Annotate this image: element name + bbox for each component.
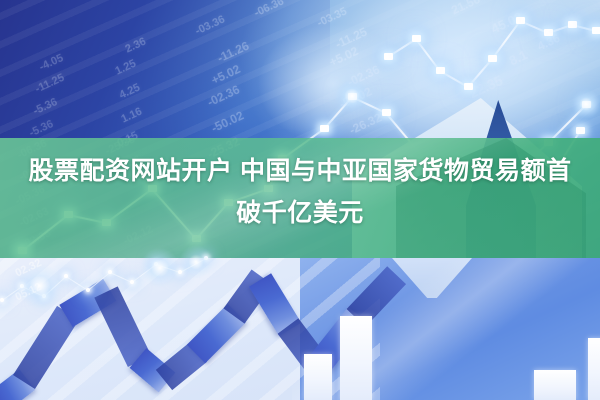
chart-node-marker <box>320 125 329 132</box>
headline-line-1: 股票配资网站开户 中国与中亚国家货物贸易额首 <box>0 150 600 192</box>
chart-node-marker <box>488 55 497 62</box>
light-flare <box>179 245 213 279</box>
news-banner: -06.3621.56-03.3545.02-03.36-11.254.362.… <box>0 0 600 400</box>
light-flare <box>140 248 180 288</box>
small-chart-node <box>86 288 90 292</box>
chart-node-marker <box>544 29 553 36</box>
small-chart-node <box>64 274 68 278</box>
chart-node-marker <box>436 67 445 74</box>
headline-line-2: 破千亿美元 <box>0 192 600 234</box>
chart-node-marker <box>516 17 525 24</box>
chart-line-segment <box>491 20 520 59</box>
chart-node-marker <box>382 109 391 116</box>
page-title: 股票配资网站开户 中国与中亚国家货物贸易额首 破千亿美元 <box>0 150 600 234</box>
small-chart-node <box>108 270 112 274</box>
light-flare <box>335 79 369 113</box>
chart-node-marker <box>592 27 600 34</box>
chart-node-marker <box>412 35 421 42</box>
chart-node-marker <box>384 53 393 60</box>
chart-node-marker <box>576 127 585 134</box>
small-chart-node <box>0 298 4 302</box>
bar-chart-bar <box>304 354 332 400</box>
light-flare <box>571 89 600 119</box>
chart-node-marker <box>568 21 577 28</box>
bar-chart-bar <box>340 316 372 400</box>
chart-node-marker <box>464 83 473 90</box>
bar-chart-bar <box>588 338 600 400</box>
small-chart-node <box>130 280 134 284</box>
bar-chart-bar <box>534 370 576 400</box>
